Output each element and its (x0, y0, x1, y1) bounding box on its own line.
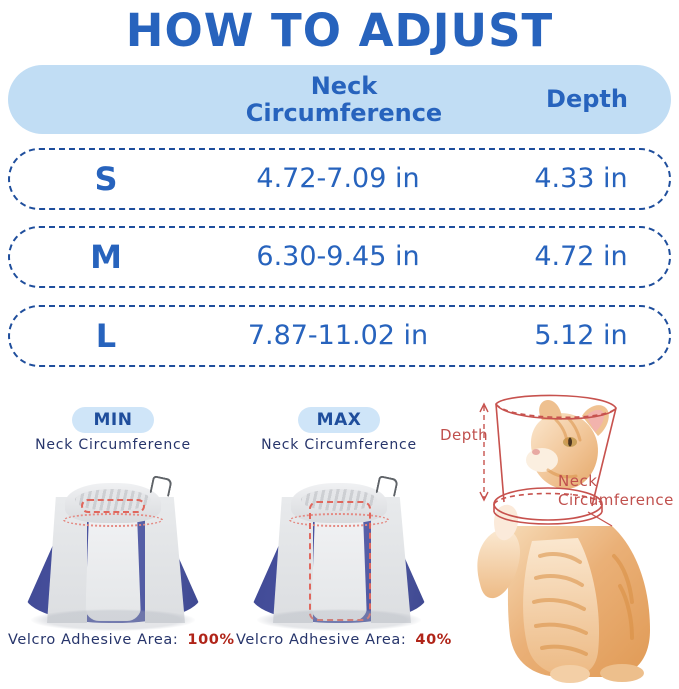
diagram-label-depth: Depth (440, 426, 488, 444)
cell-size: S (56, 150, 156, 208)
panel-caption-max: Neck Circumference (226, 437, 452, 453)
column-header-neck-line2: Circumference (246, 99, 442, 127)
cell-neck-circumference: 7.87-11.02 in (170, 307, 506, 365)
cell-neck-circumference: 4.72-7.09 in (170, 150, 506, 208)
neck-circumference-marker (63, 513, 163, 527)
diagram-label-neck-line2: Circumference (558, 491, 674, 509)
table-row: S 4.72-7.09 in 4.33 in (8, 148, 671, 210)
badge-max: MAX (298, 407, 380, 433)
velcro-label-max: Velcro Adhesive Area: (236, 632, 406, 648)
cone-shadow (31, 609, 195, 631)
velcro-caption-min: Velcro Adhesive Area:100% (8, 632, 235, 648)
product-photo-cone-max (226, 457, 452, 627)
cone-hook-icon (375, 475, 399, 498)
cone-hook-icon (149, 475, 173, 498)
velcro-caption-max: Velcro Adhesive Area:40% (236, 632, 452, 648)
diagram-label-neck-circumference: Neck Circumference (558, 472, 674, 510)
velcro-label-min: Velcro Adhesive Area: (8, 632, 178, 648)
column-header-neck-circumference: Neck Circumference (176, 73, 512, 127)
table-row: M 6.30-9.45 in 4.72 in (8, 226, 671, 288)
cell-depth: 4.72 in (506, 228, 656, 286)
cone-shadow (257, 609, 421, 631)
cell-depth: 5.12 in (506, 307, 656, 365)
velcro-area-outline (81, 499, 145, 513)
column-header-neck-line1: Neck (311, 72, 378, 100)
velcro-percent-min: 100% (187, 632, 234, 648)
cell-depth: 4.33 in (506, 150, 656, 208)
cell-size: L (56, 307, 156, 365)
badge-min: MIN (72, 407, 154, 433)
panel-caption-min: Neck Circumference (0, 437, 226, 453)
velcro-area-outline (309, 501, 371, 621)
product-photo-cone-min (0, 457, 226, 627)
cell-size: M (56, 228, 156, 286)
page-title: HOW TO ADJUST (0, 4, 679, 58)
cone-illustration (251, 475, 427, 623)
cone-illustration (25, 475, 201, 623)
table-header-bar: Neck Circumference Depth (8, 65, 671, 134)
cat-measurement-diagram: Depth Neck Circumference (436, 386, 679, 685)
depth-dimension-arrow (480, 404, 488, 500)
column-header-depth: Depth (512, 86, 662, 113)
diagram-label-neck-line1: Neck (558, 472, 597, 490)
cell-neck-circumference: 6.30-9.45 in (170, 228, 506, 286)
cat-body (477, 505, 650, 683)
table-row: L 7.87-11.02 in 5.12 in (8, 305, 671, 367)
